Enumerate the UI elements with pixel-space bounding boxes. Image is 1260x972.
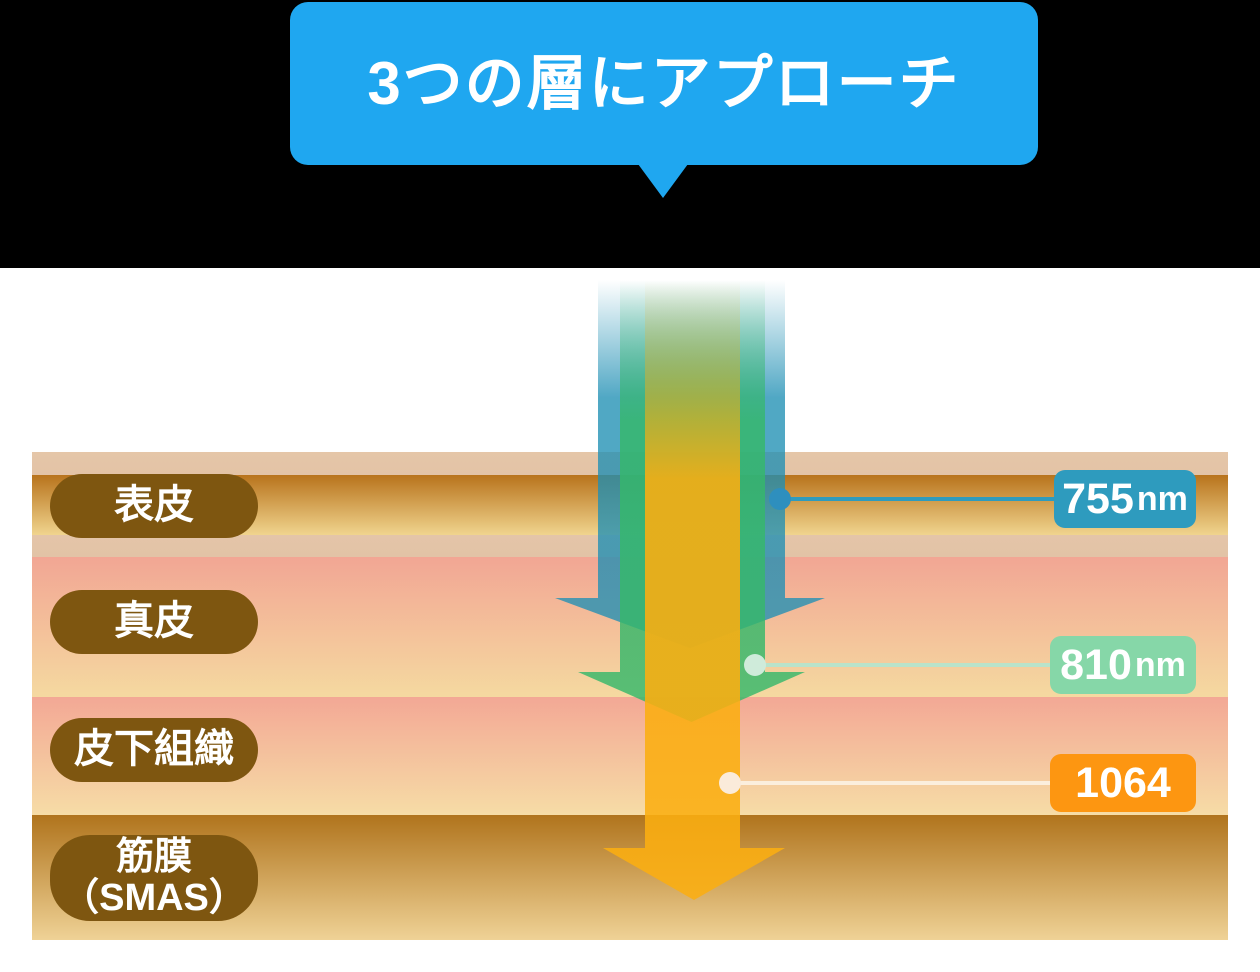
badge-1064: 1064: [1050, 754, 1196, 812]
pill-epidermis-label: 表皮: [114, 484, 194, 527]
connector-810-line: [755, 663, 1050, 667]
pill-dermis-label: 真皮: [114, 600, 194, 643]
header-banner: 3つの層にアプローチ: [290, 2, 1038, 165]
pill-fascia-sublabel: （SMAS）: [61, 878, 247, 919]
connector-810-dot: [744, 654, 766, 676]
badge-810-value: 810: [1060, 641, 1132, 690]
pill-subcutaneous-label: 皮下組織: [74, 728, 234, 771]
pill-subcutaneous: 皮下組織: [50, 718, 258, 782]
badge-755-value: 755: [1062, 475, 1134, 524]
banner-title: 3つの層にアプローチ: [367, 54, 960, 114]
connector-1064-line: [730, 781, 1050, 785]
infographic-root: 3つの層にアプローチ 表皮真皮皮下組織筋膜（SMAS）755nm810nm106…: [0, 0, 1260, 972]
badge-755: 755nm: [1054, 470, 1196, 528]
badge-810: 810nm: [1050, 636, 1196, 694]
banner-tail-icon: [638, 164, 688, 198]
skin-layer-epidermis-strip: [32, 535, 1228, 557]
connector-755-line: [780, 497, 1054, 501]
connector-1064-dot: [719, 772, 741, 794]
connector-755-dot: [769, 488, 791, 510]
pill-fascia-label: 筋膜: [116, 837, 192, 878]
badge-1064-value: 1064: [1075, 759, 1171, 808]
badge-755-unit: nm: [1137, 480, 1188, 519]
skin-layer-surface-strip: [32, 452, 1228, 475]
pill-epidermis: 表皮: [50, 474, 258, 538]
badge-810-unit: nm: [1135, 646, 1186, 685]
pill-dermis: 真皮: [50, 590, 258, 654]
pill-fascia: 筋膜（SMAS）: [50, 835, 258, 921]
